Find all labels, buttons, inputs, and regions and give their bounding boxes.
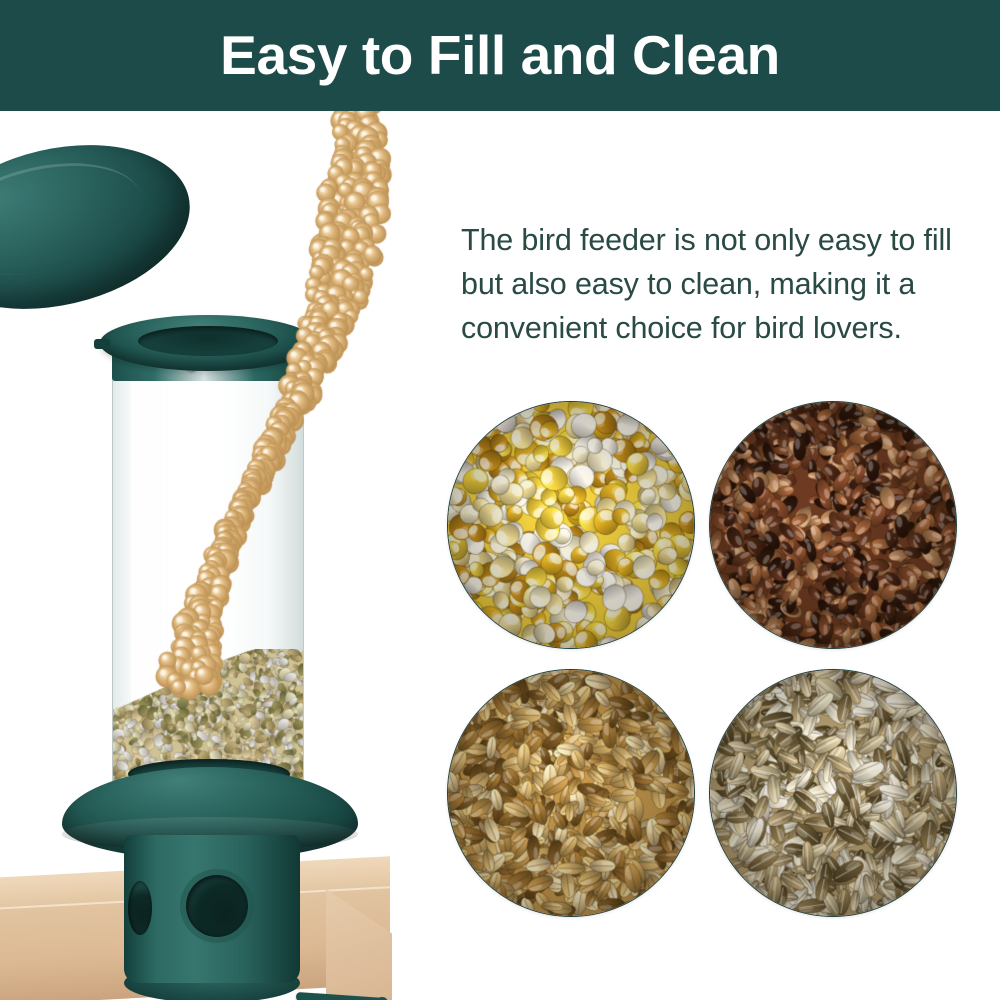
feeder-cap (100, 315, 316, 371)
page-title: Easy to Fill and Clean (0, 23, 1000, 87)
product-feature-image: Easy to Fill and Clean (0, 0, 1000, 1000)
seed-circle-barley (447, 669, 695, 917)
description-text: The bird feeder is not only easy to fill… (461, 218, 973, 350)
feeding-port (186, 875, 248, 937)
cap-tab (94, 339, 110, 349)
header-banner: Easy to Fill and Clean (0, 0, 1000, 111)
seed-circle-corn (447, 401, 695, 649)
cap-opening (138, 326, 278, 356)
seed-circle-sunflower (709, 669, 957, 917)
seed-type-gallery (447, 401, 973, 927)
feeding-port-side (128, 881, 152, 935)
seed-tube (112, 359, 304, 787)
feeder-lid (0, 115, 198, 345)
product-photo (0, 111, 440, 1000)
seed-circle-flax (709, 401, 957, 649)
